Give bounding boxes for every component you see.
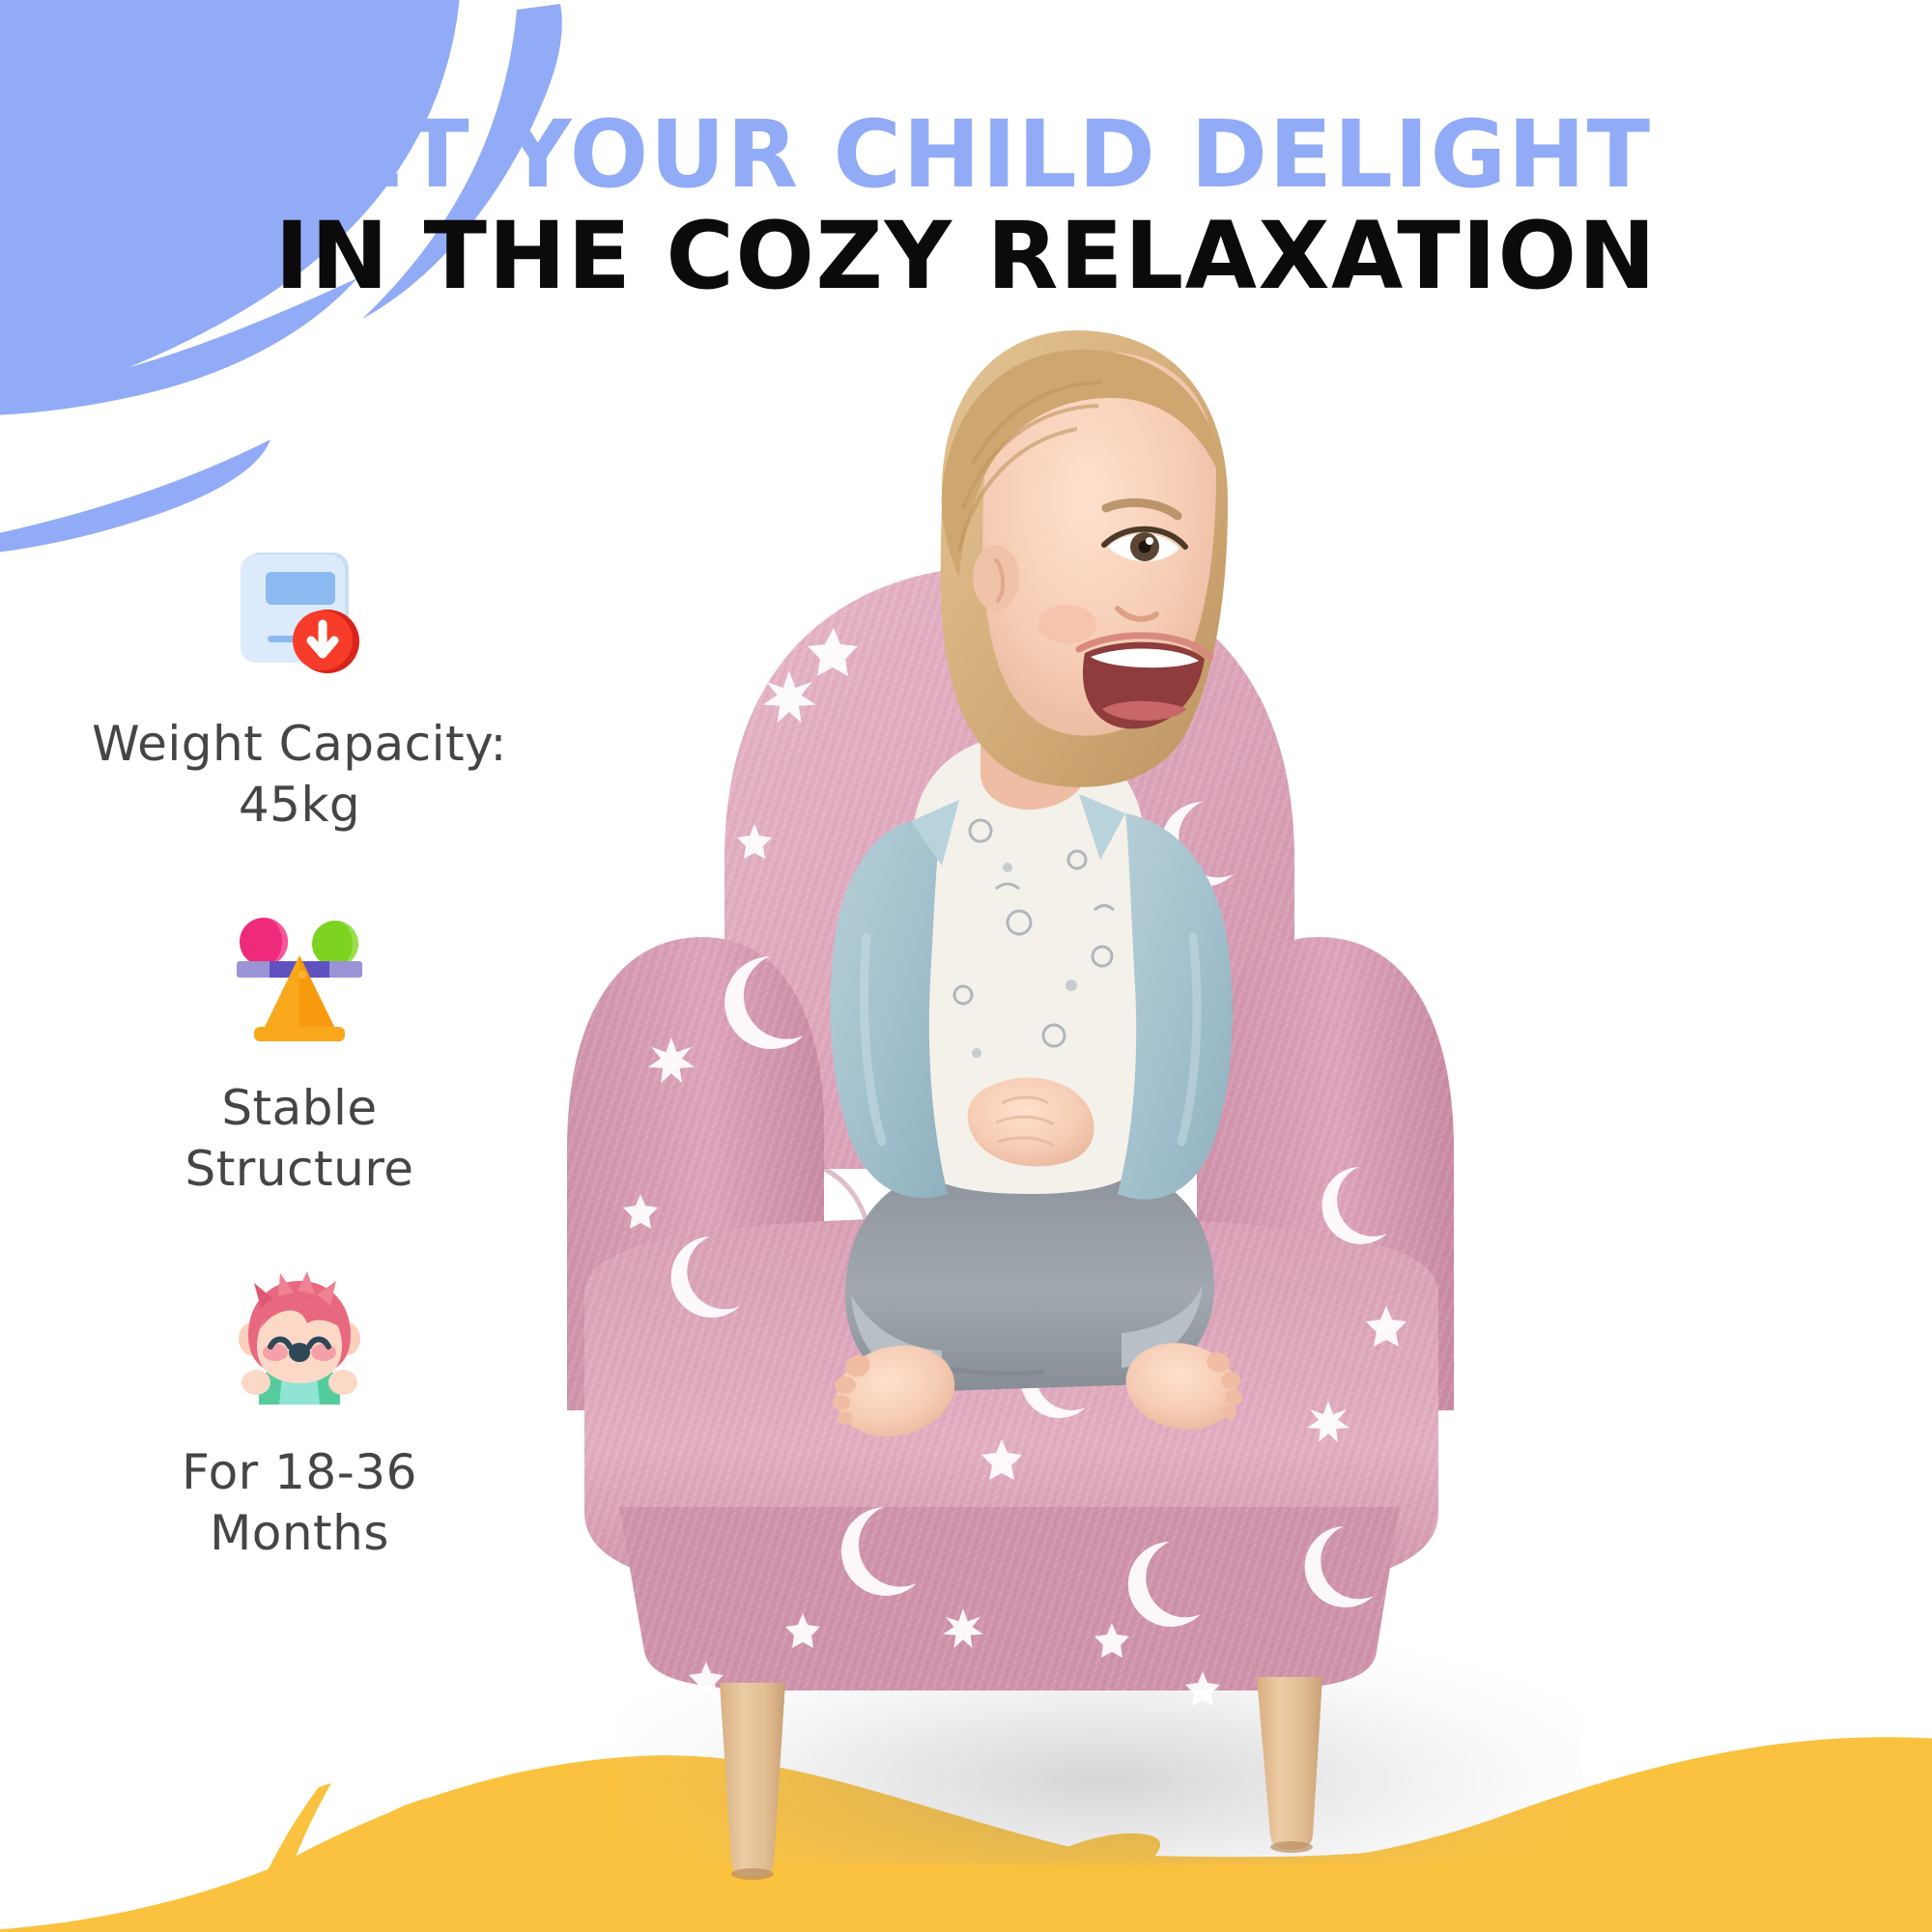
chair-leg-left <box>720 1683 785 1877</box>
feature-weight-capacity: Weight Capacity: 45kg <box>29 541 570 836</box>
feature-stable-structure-label: Stable Structure <box>185 1078 413 1200</box>
child-model <box>827 330 1245 1449</box>
feature-stable-structure: Stable Structure <box>29 905 570 1200</box>
product-photo <box>526 319 1492 1903</box>
headline: LET YOUR CHILD DELIGHT IN THE COZY RELAX… <box>0 109 1932 300</box>
headline-line-1: LET YOUR CHILD DELIGHT <box>0 109 1932 200</box>
feature-age-range-label: For 18-36 Months <box>182 1442 417 1564</box>
feature-list: Weight Capacity: 45kg <box>29 541 570 1564</box>
blue-sliver-3 <box>0 440 270 557</box>
balance-scale-icon <box>227 905 372 1055</box>
feature-age-range: For 18-36 Months <box>29 1269 570 1564</box>
weight-scale-icon <box>227 541 372 691</box>
headline-line-2: IN THE COZY RELAXATION <box>0 211 1932 301</box>
product-feature-banner: LET YOUR CHILD DELIGHT IN THE COZY RELAX… <box>0 0 1932 1932</box>
feature-weight-capacity-label: Weight Capacity: 45kg <box>92 714 507 836</box>
chair-leg-right <box>1257 1677 1322 1850</box>
baby-face-icon <box>222 1269 377 1419</box>
